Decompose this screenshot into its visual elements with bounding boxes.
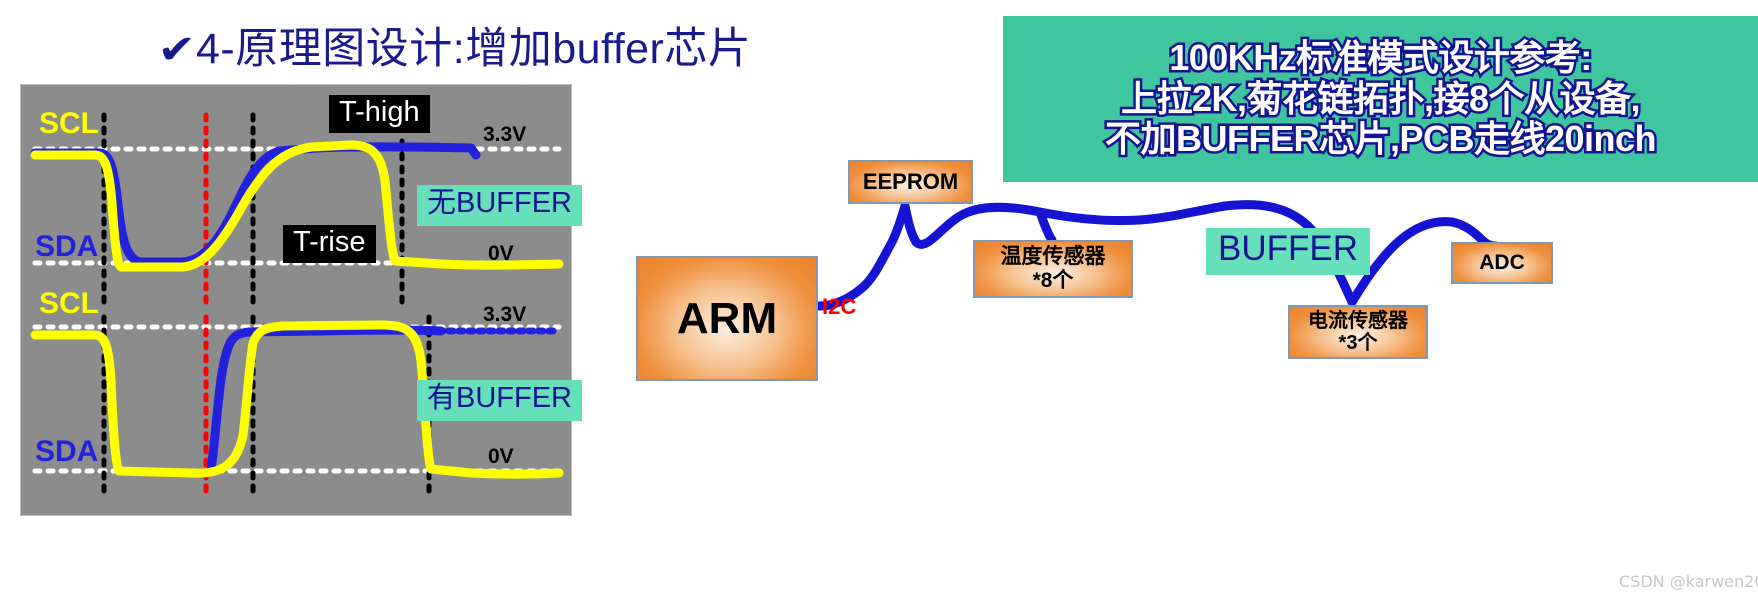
chip-arm-label: ARM <box>677 294 777 343</box>
tag-buffer-location: BUFFER <box>1206 228 1370 275</box>
waveform-voltage-low-bottom: 0V <box>488 445 514 469</box>
waveform-voltage-high-top: 3.3V <box>483 123 526 147</box>
chip-eeprom-label: EEPROM <box>863 170 958 195</box>
i2c-topology-diagram: ARM EEPROM 温度传感器 *8个 电流传感器 *3个 ADC I2C <box>600 120 1758 520</box>
page-title: ✔4-原理图设计:增加buffer芯片 <box>160 14 751 76</box>
chip-temperature-sensor[interactable]: 温度传感器 *8个 <box>973 240 1133 298</box>
annotation-t-high: T-high <box>329 95 430 133</box>
chip-current-sensor-count: *3个 <box>1339 332 1378 354</box>
waveform-voltage-high-bottom: 3.3V <box>483 303 526 327</box>
chip-current-sensor[interactable]: 电流传感器 *3个 <box>1288 305 1428 359</box>
annotation-t-rise: T-rise <box>283 225 376 263</box>
checkmark-icon: ✔ <box>157 27 196 73</box>
waveform-label-sda-top: SDA <box>35 232 98 262</box>
chip-eeprom[interactable]: EEPROM <box>848 160 973 204</box>
chip-current-sensor-label: 电流传感器 <box>1308 310 1408 332</box>
bus-label-i2c: I2C <box>822 294 856 320</box>
tag-no-buffer: 无BUFFER <box>417 185 582 226</box>
callout-line-2: 上拉2K,菊花链拓扑,接8个从设备, <box>1121 80 1640 119</box>
waveform-diagram: SCL SDA 3.3V 0V T-high T-rise 无BUFFER SC… <box>20 84 572 516</box>
watermark: CSDN @karwen2020 <box>1619 572 1758 591</box>
waveform-label-sda-bottom: SDA <box>35 437 98 467</box>
tag-with-buffer: 有BUFFER <box>417 380 582 421</box>
waveform-voltage-low-top: 0V <box>488 242 514 266</box>
chip-adc-label: ADC <box>1479 251 1525 275</box>
chip-arm[interactable]: ARM <box>636 256 818 381</box>
waveform-label-scl-bottom: SCL <box>39 289 99 319</box>
chip-adc[interactable]: ADC <box>1451 242 1553 284</box>
waveform-label-scl-top: SCL <box>39 109 99 139</box>
chip-temperature-sensor-count: *8个 <box>1033 269 1074 293</box>
page-title-text: 4-原理图设计:增加buffer芯片 <box>196 25 751 73</box>
callout-line-1: 100KHz标准模式设计参考: <box>1169 39 1592 78</box>
chip-temperature-sensor-label: 温度传感器 <box>1001 245 1106 269</box>
